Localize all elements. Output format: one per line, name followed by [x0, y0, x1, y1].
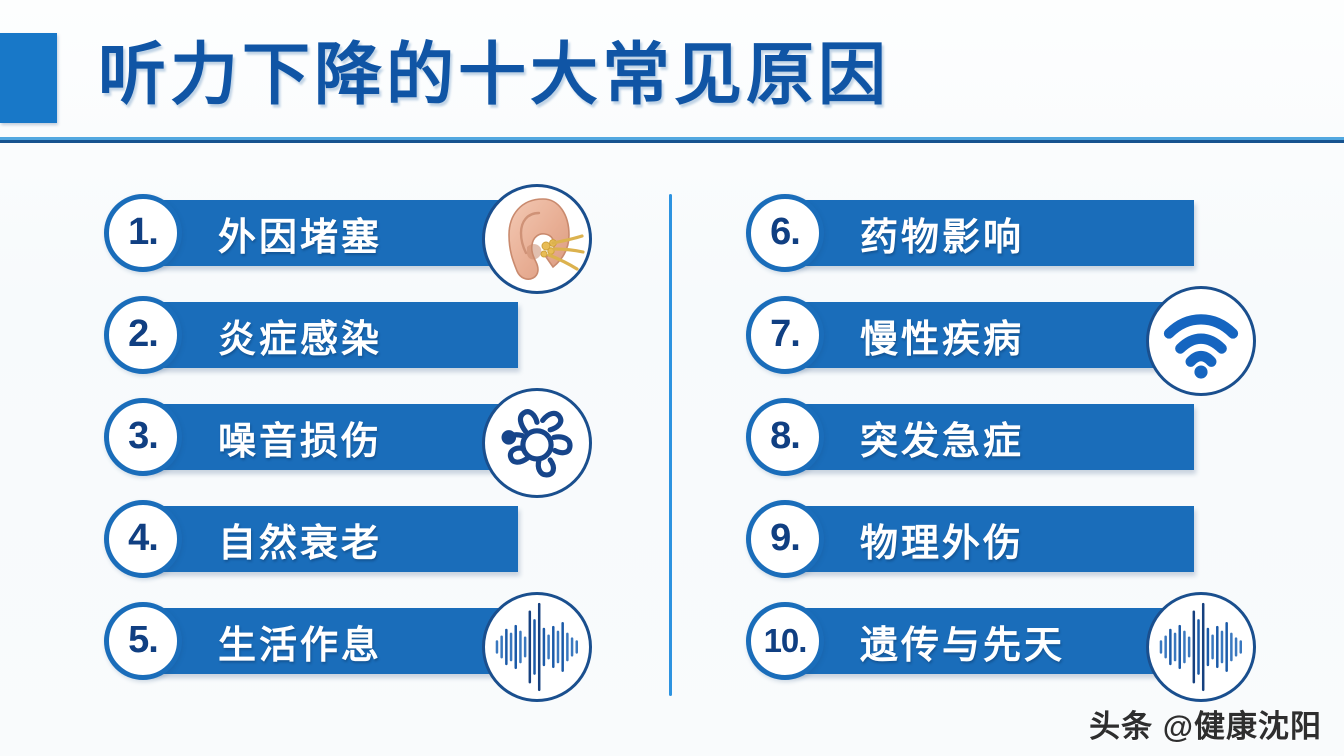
item-number-badge: 7. — [746, 296, 824, 374]
item-number-badge: 3. — [104, 398, 182, 476]
item-label: 遗传与先天 — [860, 608, 1065, 674]
header: 听力下降的十大常见原因 — [0, 0, 1344, 146]
item-number: 2. — [128, 315, 158, 353]
watermark: 头条 @健康沈阳 — [1089, 701, 1322, 746]
item-number-badge: 1. — [104, 194, 182, 272]
item-label: 药物影响 — [860, 200, 1024, 266]
page-title: 听力下降的十大常见原因 — [98, 24, 890, 126]
list-item[interactable]: 4.自然衰老 — [104, 500, 624, 578]
list-item[interactable]: 3.噪音损伤 — [104, 398, 624, 476]
item-label: 慢性疾病 — [860, 302, 1024, 368]
content-area: 1.外因堵塞2.炎症感染3.噪音损伤4.自然衰老5.生活作息 6.药物影响7.慢… — [0, 146, 1344, 756]
list-item[interactable]: 9.物理外伤 — [746, 500, 1286, 578]
item-label: 物理外伤 — [860, 506, 1024, 572]
item-number: 4. — [128, 519, 158, 557]
item-label: 自然衰老 — [218, 506, 382, 572]
header-accent-block — [0, 33, 57, 123]
header-divider-dark — [0, 140, 1344, 143]
infographic-poster: 听力下降的十大常见原因 1.外因堵塞2.炎症感染3.噪音损伤4.自然衰老5.生活… — [0, 0, 1344, 756]
list-item[interactable]: 1.外因堵塞 — [104, 194, 624, 272]
list-item[interactable]: 10.遗传与先天 — [746, 602, 1286, 680]
list-item[interactable]: 6.药物影响 — [746, 194, 1286, 272]
item-label: 炎症感染 — [218, 302, 382, 368]
waveform-icon — [1146, 592, 1256, 702]
item-number: 9. — [770, 519, 800, 557]
item-number: 7. — [770, 315, 800, 353]
column-divider — [669, 194, 672, 696]
noise-burst-icon — [482, 388, 592, 498]
item-number: 8. — [770, 417, 800, 455]
item-label: 外因堵塞 — [218, 200, 382, 266]
item-label: 噪音损伤 — [218, 404, 382, 470]
waveform-icon — [482, 592, 592, 702]
item-number-badge: 8. — [746, 398, 824, 476]
item-number-badge: 10. — [746, 602, 824, 680]
item-number-badge: 6. — [746, 194, 824, 272]
ear-icon — [482, 184, 592, 294]
wifi-icon — [1146, 286, 1256, 396]
item-number: 10. — [764, 624, 807, 657]
item-label: 突发急症 — [860, 404, 1024, 470]
item-number-badge: 9. — [746, 500, 824, 578]
item-number: 3. — [128, 417, 158, 455]
list-item[interactable]: 2.炎症感染 — [104, 296, 624, 374]
list-item[interactable]: 7.慢性疾病 — [746, 296, 1286, 374]
item-number: 6. — [770, 213, 800, 251]
item-number-badge: 4. — [104, 500, 182, 578]
item-number: 5. — [128, 621, 158, 659]
item-number-badge: 5. — [104, 602, 182, 680]
item-label: 生活作息 — [218, 608, 382, 674]
list-item[interactable]: 5.生活作息 — [104, 602, 624, 680]
list-item[interactable]: 8.突发急症 — [746, 398, 1286, 476]
item-number: 1. — [128, 213, 158, 251]
item-number-badge: 2. — [104, 296, 182, 374]
